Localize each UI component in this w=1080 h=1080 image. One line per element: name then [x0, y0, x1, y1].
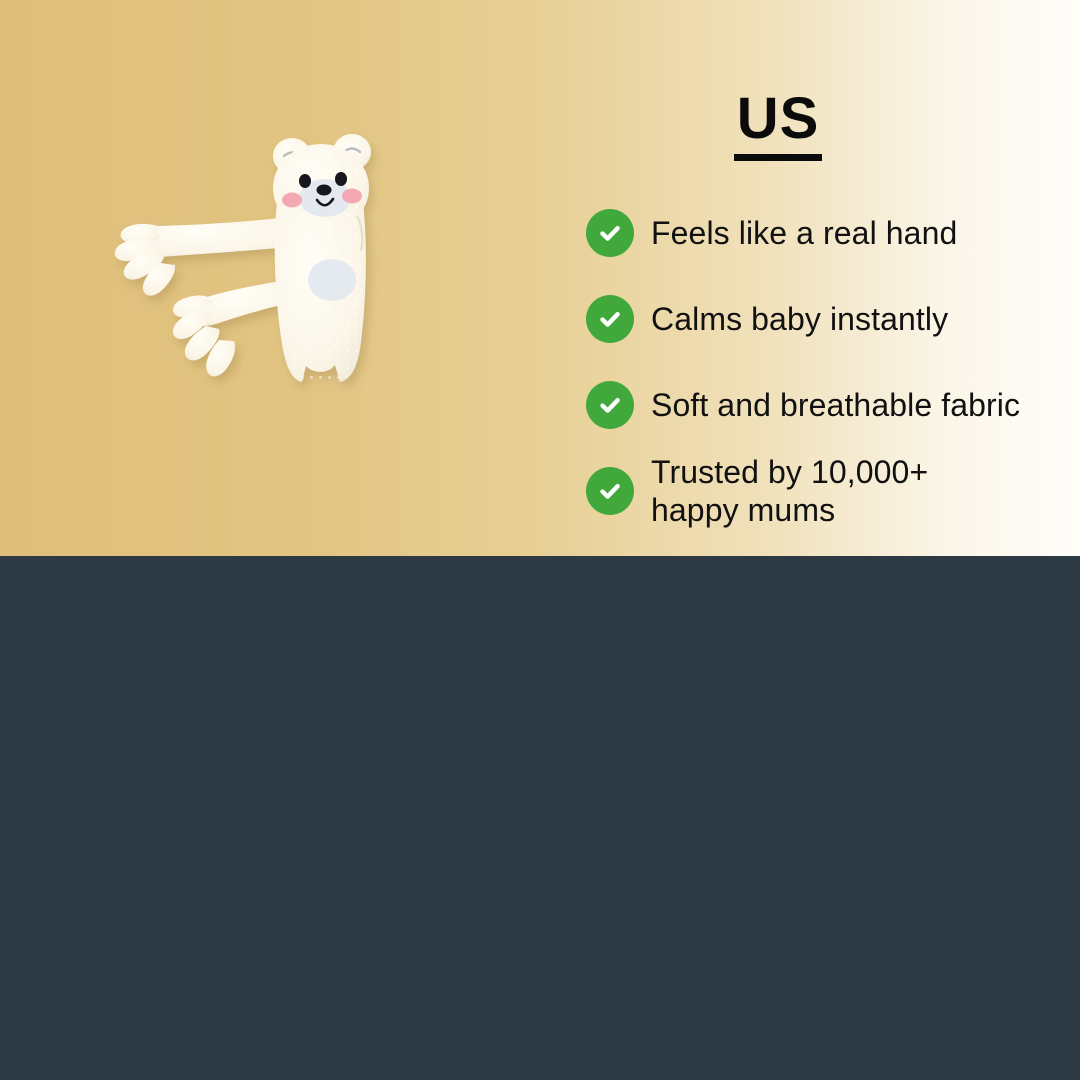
us-heading: US — [540, 90, 1016, 161]
list-item: Soft and breathable fabric — [586, 362, 1056, 448]
them-panel: THEM Just a regular plush toy Bab — [0, 556, 1080, 1080]
comparison-infographic: US Feels like a real hand Calms b — [0, 0, 1080, 1080]
list-item-label: Feels like a real hand — [651, 214, 957, 252]
us-heading-text: US — [737, 86, 820, 151]
check-circle-icon — [586, 467, 634, 515]
list-item-label: Trusted by 10,000+ happy mums — [651, 453, 928, 530]
check-circle-icon — [586, 209, 634, 257]
list-item: Trusted by 10,000+ happy mums — [586, 448, 1056, 534]
us-panel: US Feels like a real hand Calms b — [0, 0, 1080, 556]
us-heading-underline — [734, 154, 822, 161]
list-item: Calms baby instantly — [586, 276, 1056, 362]
check-circle-icon — [586, 381, 634, 429]
us-product-image — [100, 130, 400, 420]
list-item-label: Soft and breathable fabric — [651, 386, 1020, 424]
list-item: Feels like a real hand — [586, 190, 1056, 276]
check-circle-icon — [586, 295, 634, 343]
us-benefit-list: Feels like a real hand Calms baby instan… — [586, 190, 1056, 534]
list-item-label: Calms baby instantly — [651, 300, 948, 338]
